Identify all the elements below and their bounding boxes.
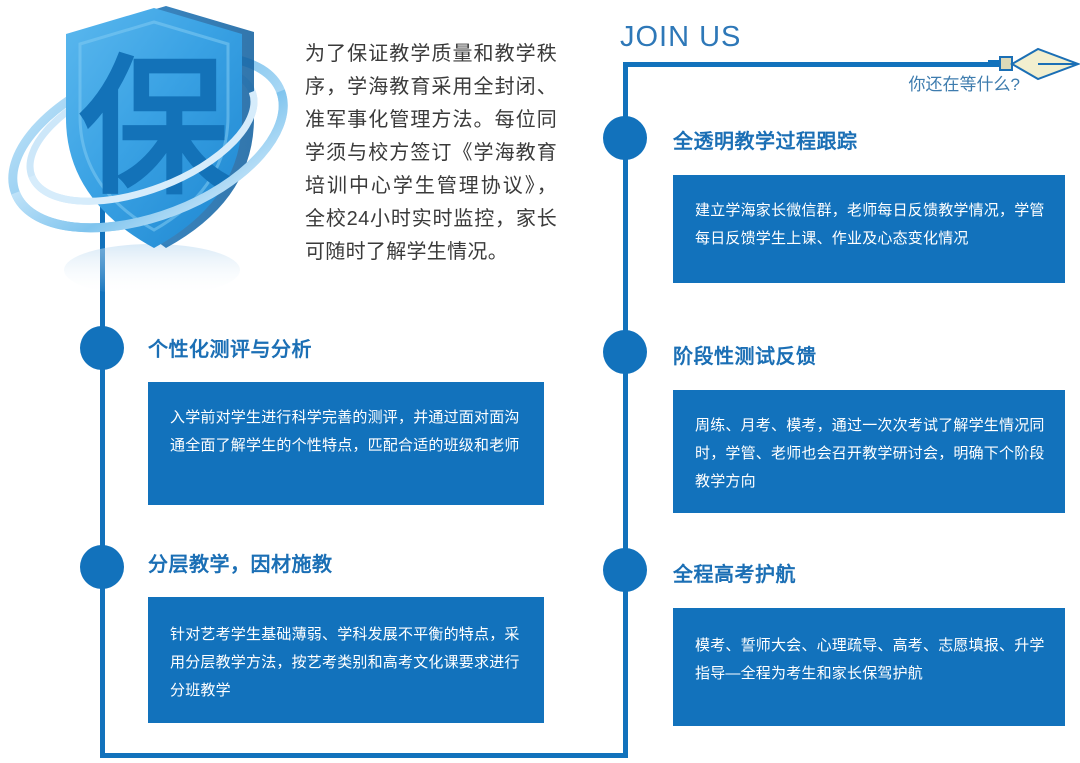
shield-logo-icon: 保 [2,2,294,298]
card-title: 全程高考护航 [673,558,796,587]
card-title: 分层教学，因材施教 [148,548,333,577]
card-body-text: 模考、誓师大会、心理疏导、高考、志愿填报、升学指导—全程为考生和家长保驾护航 [695,632,1045,688]
card-body-text: 针对艺考学生基础薄弱、学科发展不平衡的特点，采用分层教学方法，按艺考类别和高考文… [170,621,524,705]
card-body: 针对艺考学生基础薄弱、学科发展不平衡的特点，采用分层教学方法，按艺考类别和高考文… [148,597,544,723]
timeline-node-right-1 [603,116,647,160]
card-title: 个性化测评与分析 [148,333,312,362]
timeline-node-left-2 [80,545,124,589]
card-body-text: 周练、月考、模考，通过一次次考试了解学生情况同时，学管、老师也会召开教学研讨会，… [695,412,1045,496]
card-title: 阶段性测试反馈 [673,340,817,369]
join-us-subtitle: 你还在等什么? [820,70,1020,95]
timeline-right-vertical-line [623,62,628,758]
card-body: 入学前对学生进行科学完善的测评，并通过面对面沟通全面了解学生的个性特点，匹配合适… [148,382,544,505]
timeline-node-left-1 [80,326,124,370]
timeline-node-right-3 [603,548,647,592]
card-body: 建立学海家长微信群，老师每日反馈教学情况，学管每日反馈学生上课、作业及心态变化情… [673,175,1065,283]
infographic-canvas: 保 为了保证教学质量和教学秩序，学海教育采用全封闭、准军事化管理方法。每位同学须… [0,0,1080,763]
timeline-bottom-horizontal-line [100,753,628,758]
intro-paragraph: 为了保证教学质量和教学秩序，学海教育采用全封闭、准军事化管理方法。每位同学须与校… [305,38,557,269]
card-body: 模考、誓师大会、心理疏导、高考、志愿填报、升学指导—全程为考生和家长保驾护航 [673,608,1065,726]
card-title: 全透明教学过程跟踪 [673,125,858,154]
card-body: 周练、月考、模考，通过一次次考试了解学生情况同时，学管、老师也会召开教学研讨会，… [673,390,1065,513]
join-us-title: JOIN US [620,20,741,54]
timeline-node-right-2 [603,330,647,374]
timeline-top-horizontal-line [623,62,993,67]
card-body-text: 入学前对学生进行科学完善的测评，并通过面对面沟通全面了解学生的个性特点，匹配合适… [170,404,524,460]
card-body-text: 建立学海家长微信群，老师每日反馈教学情况，学管每日反馈学生上课、作业及心态变化情… [695,197,1045,253]
